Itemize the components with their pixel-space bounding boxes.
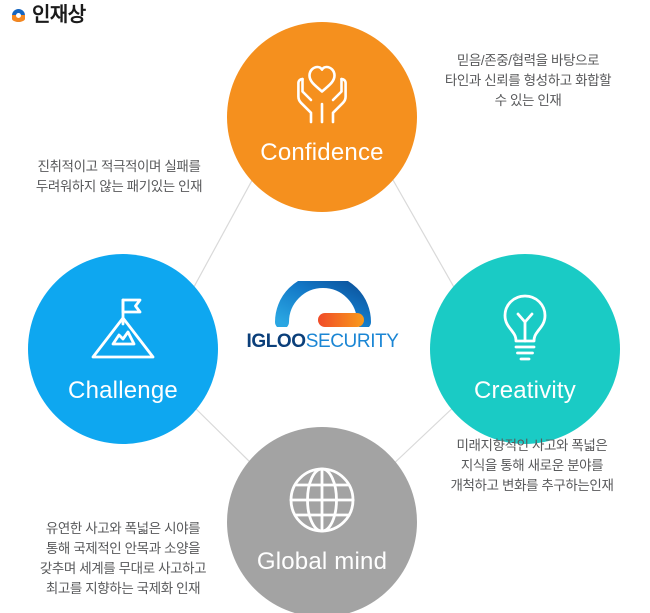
node-confidence[interactable]: Confidence — [227, 22, 417, 212]
node-label: Creativity — [474, 377, 576, 405]
globe-icon — [287, 465, 357, 535]
logo-wordmark: IGLOOSECURITY — [246, 331, 398, 353]
igloo-arch-icon — [268, 281, 378, 327]
node-label: Confidence — [260, 139, 383, 167]
description-creativity: 미래지향적인 사고와 폭넓은 지식을 통해 새로운 분야를 개척하고 변화를 추… — [424, 436, 640, 496]
talent-vision-diagram: 인재상 Confidence — [0, 0, 650, 613]
logo-wordmark-bold: IGLOO — [246, 331, 305, 352]
lightbulb-icon — [494, 292, 556, 364]
igloo-security-logo: IGLOOSECURITY — [249, 281, 396, 351]
description-challenge: 진취적이고 적극적이며 실패를 두려워하지 않는 패기있는 인재 — [8, 157, 230, 197]
node-challenge[interactable]: Challenge — [28, 254, 218, 444]
node-label: Challenge — [68, 377, 178, 405]
hands-holding-heart-icon — [280, 60, 364, 126]
mountain-flag-icon — [88, 292, 158, 364]
node-label: Global mind — [257, 548, 387, 576]
description-globalmind: 유연한 사고와 폭넓은 시야를 통해 국제적인 안목과 소양을 갖추며 세계를 … — [8, 519, 238, 599]
node-globalmind[interactable]: Global mind — [227, 427, 417, 613]
node-creativity[interactable]: Creativity — [430, 254, 620, 444]
logo-wordmark-light: SECURITY — [306, 331, 399, 352]
description-confidence: 믿음/존중/협력을 바탕으로 타인과 신뢰를 형성하고 화합할 수 있는 인재 — [420, 51, 636, 111]
